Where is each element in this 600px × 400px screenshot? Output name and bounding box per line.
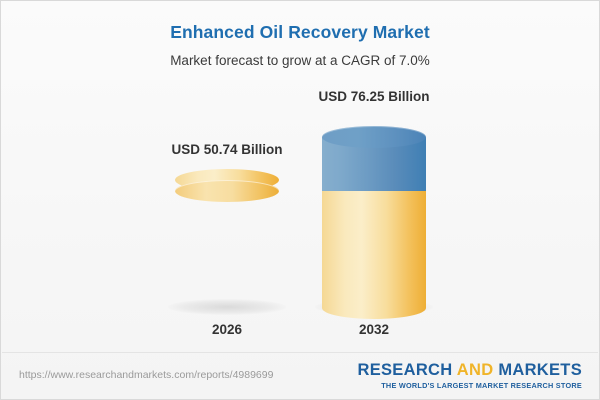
logo-tagline: THE WORLD'S LARGEST MARKET RESEARCH STOR… <box>357 381 582 390</box>
chart-plot-area: USD 50.74 Billion 2026 USD 76.25 Billion <box>1 1 600 353</box>
data-label-2032: USD 76.25 Billion <box>318 89 429 104</box>
cylinder-body <box>322 180 426 308</box>
logo-word-research: RESEARCH <box>357 361 452 379</box>
axis-label-2032: 2032 <box>359 322 389 337</box>
cylinder-2032[interactable] <box>322 126 426 308</box>
logo-wordmark: RESEARCH AND MARKETS <box>357 362 582 379</box>
research-and-markets-logo[interactable]: RESEARCH AND MARKETS THE WORLD'S LARGEST… <box>357 362 582 390</box>
logo-word-markets: MARKETS <box>498 361 582 379</box>
cylinder-top-ellipse <box>175 180 279 202</box>
axis-label-2026: 2026 <box>212 322 242 337</box>
cylinder-segment-base-2032 <box>322 180 426 308</box>
logo-word-and: AND <box>457 361 494 379</box>
cylinder-2026[interactable] <box>175 180 279 308</box>
cylinder-top-ellipse <box>322 126 426 148</box>
data-label-2026: USD 50.74 Billion <box>171 142 282 157</box>
source-url[interactable]: https://www.researchandmarkets.com/repor… <box>19 369 273 381</box>
infographic-card: Enhanced Oil Recovery Market Market fore… <box>0 0 600 400</box>
footer-divider <box>2 352 598 353</box>
cylinder-segment-growth-2032 <box>322 126 426 191</box>
